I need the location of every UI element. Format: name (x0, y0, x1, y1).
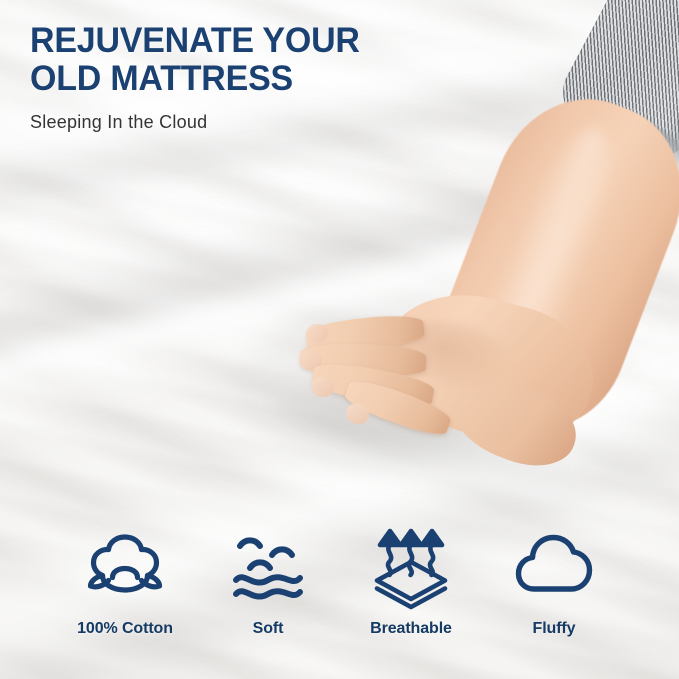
feature-icon-row: 100% Cotton Soft (0, 528, 679, 638)
cotton-boll-icon (85, 528, 165, 606)
feature-label-cotton: 100% Cotton (77, 620, 173, 638)
feature-label-soft: Soft (253, 620, 284, 638)
breathable-layers-arrows-icon (371, 528, 451, 606)
feature-item-fluffy: Fluffy (491, 528, 617, 638)
feature-item-soft: Soft (205, 528, 331, 638)
feature-label-breathable: Breathable (370, 620, 452, 638)
page-title: REJUVENATE YOUR OLD MATTRESS (30, 22, 457, 98)
feature-item-breathable: Breathable (348, 528, 474, 638)
product-feature-banner: REJUVENATE YOUR OLD MATTRESS Sleeping In… (0, 0, 679, 679)
soft-waves-icon (228, 528, 308, 606)
feature-item-cotton: 100% Cotton (62, 528, 188, 638)
headline-block: REJUVENATE YOUR OLD MATTRESS Sleeping In… (30, 22, 470, 133)
subtitle: Sleeping In the Cloud (30, 112, 470, 133)
cloud-icon (514, 528, 594, 606)
feature-label-fluffy: Fluffy (533, 620, 576, 638)
